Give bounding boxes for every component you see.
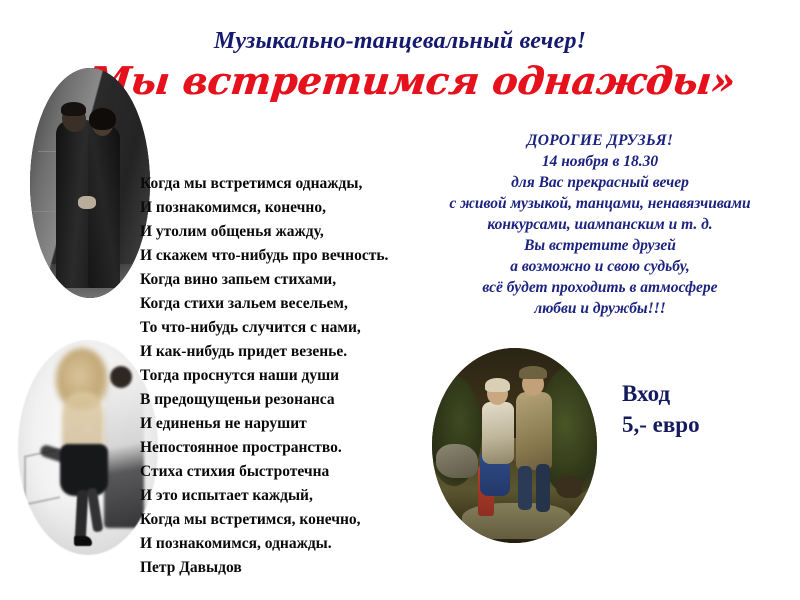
announcement-text: ДОРОГИЕ ДРУЗЬЯ! 14 ноября в 18.30 для Ва… [400, 130, 800, 319]
painting-man-leg-left [518, 466, 532, 510]
poem-author: Петр Давыдов [140, 556, 440, 580]
announcement-line: с живой музыкой, танцами, ненавязчивами [400, 193, 800, 214]
man-hair [61, 102, 86, 116]
entry-price-label: Вход [622, 378, 700, 409]
announcement-line: любви и дружбы!!! [400, 298, 800, 319]
painting-man-leg-right [536, 464, 550, 512]
painting-woman-headscarf [485, 378, 510, 392]
poem-line: И как-нибудь придет везенье. [140, 340, 440, 364]
joined-hands [78, 196, 96, 209]
announcement-line: всё будет проходить в атмосфере [400, 277, 800, 298]
painting-woman-body [482, 402, 514, 464]
painting-man-body [516, 392, 552, 470]
poem-text: Когда мы встретимся однажды, И познакоми… [140, 172, 440, 580]
announcement-line: 14 ноября в 18.30 [400, 151, 800, 172]
dance-partner-head [110, 366, 132, 388]
poem-line: Тогда проснутся наши души [140, 364, 440, 388]
poem-line: И познакомимся, конечно, [140, 196, 440, 220]
poem-line: В предощущеньи резонанса [140, 388, 440, 412]
dance-partner-figure [104, 378, 144, 528]
poem-line: Когда мы встретимся однажды, [140, 172, 440, 196]
entry-price-amount: 5,- евро [622, 409, 700, 440]
event-poster: Музыкально-танцевальный вечер! «Мы встре… [0, 0, 800, 600]
poem-line: Когда стихи зальем весельем, [140, 292, 440, 316]
poem-line: То что-нибудь случится с нами, [140, 316, 440, 340]
poem-line: Когда мы встретимся, конечно, [140, 508, 440, 532]
poem-line: И скажем что-нибудь про вечность. [140, 244, 440, 268]
poem-line: Непостоянное пространство. [140, 436, 440, 460]
dance-photo [18, 340, 158, 555]
woman-hair [89, 108, 116, 130]
announcement-line: ДОРОГИЕ ДРУЗЬЯ! [400, 130, 800, 151]
announcement-line: конкурсами, шампанским и т. д. [400, 214, 800, 235]
poem-line: Стиха стихия быстротечна [140, 460, 440, 484]
dancer-skirt [60, 444, 108, 496]
poem-line: И утолим общенья жажду, [140, 220, 440, 244]
painting-rock [436, 444, 478, 478]
poem-line: И это испытает каждый, [140, 484, 440, 508]
painting-man-hat [519, 366, 547, 379]
poem-line: Когда вино запьем стихами, [140, 268, 440, 292]
page-title: Музыкально-танцевальный вечер! [0, 28, 800, 55]
poem-line: И единенья не нарушит [140, 412, 440, 436]
painting-dog [556, 476, 582, 498]
painting-image [432, 348, 597, 543]
entry-price: Вход 5,- евро [622, 378, 700, 440]
announcement-line: для Вас прекрасный вечер [400, 172, 800, 193]
dancer-shoe [74, 536, 92, 546]
announcement-line: а возможно и свою судьбу, [400, 256, 800, 277]
announcement-line: Вы встретите друзей [400, 235, 800, 256]
couple-photo [30, 68, 150, 298]
poem-line: И познакомимся, однажды. [140, 532, 440, 556]
